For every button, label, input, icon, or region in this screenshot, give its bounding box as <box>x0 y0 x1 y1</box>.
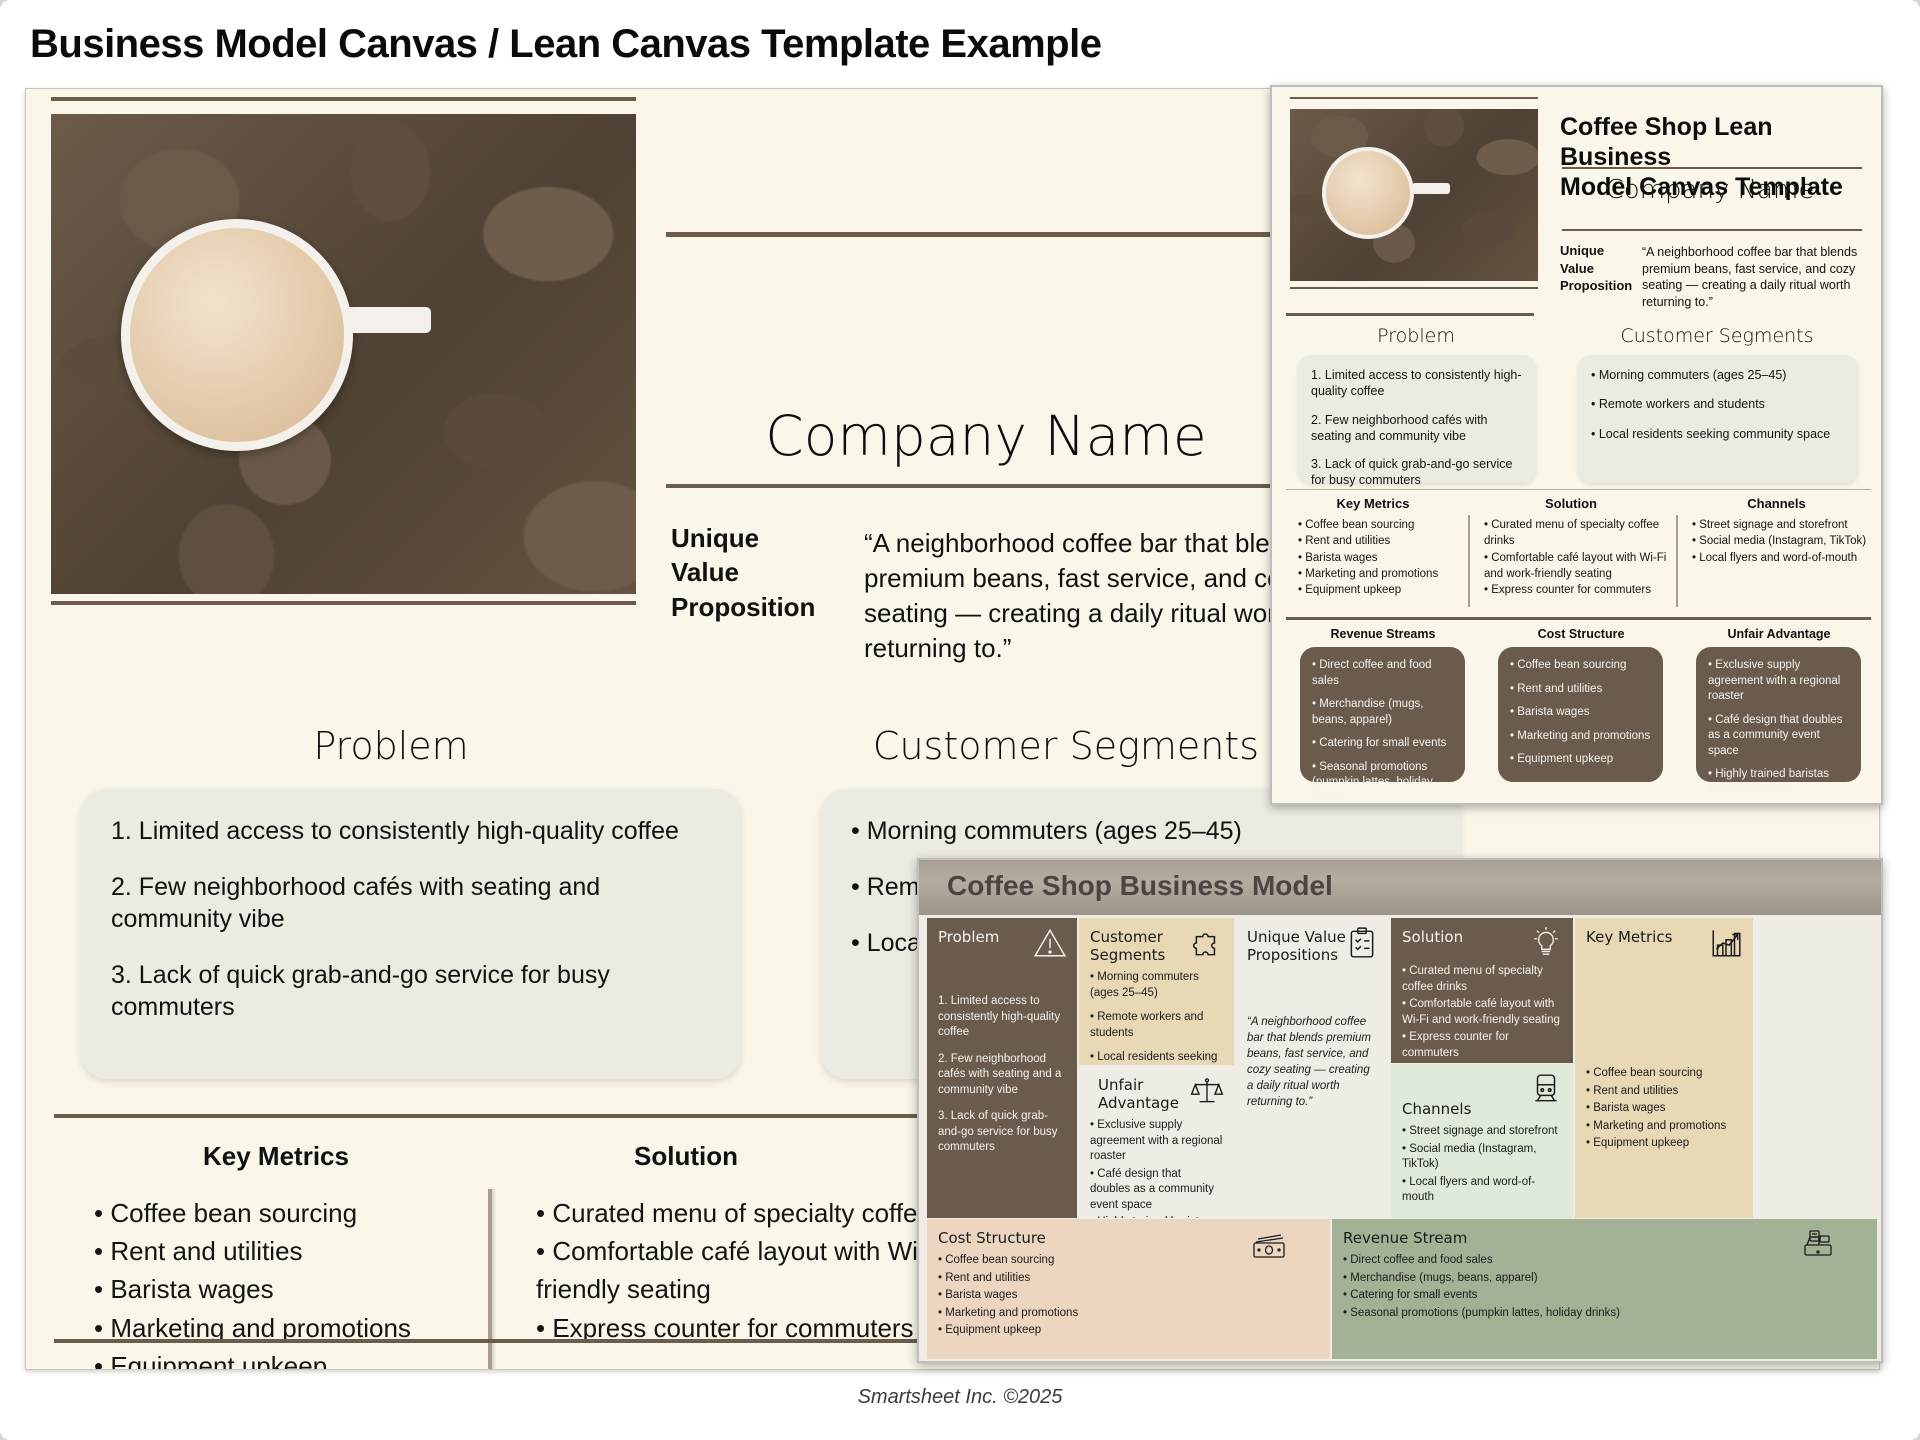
lp-problem-item: 2. Few neighborhood cafés with seating a… <box>1311 412 1523 445</box>
lp-customer-segment-item: Remote workers and students <box>1591 396 1845 412</box>
lp-problem-heading: Problem <box>1286 325 1546 347</box>
bm-uvp-heading-l2: Propositions <box>1247 946 1338 964</box>
lp-uvp-label-line1: Unique <box>1560 242 1632 260</box>
lp-cost-structure-item: Equipment upkeep <box>1510 752 1651 768</box>
bm-revenue-stream-item: Catering for small events <box>1343 1288 1866 1304</box>
lp-revenue-streams-heading: Revenue Streams <box>1288 627 1478 641</box>
puzzle-piece-icon <box>1190 926 1224 960</box>
bm-customer-segments-list: Morning commuters (ages 25–45) Remote wo… <box>1090 970 1223 1065</box>
bm-channels-cell[interactable]: Channels Street signage and storefront S… <box>1391 1064 1573 1218</box>
problem-item-1: 1. Limited access to consistently high-q… <box>111 815 711 847</box>
lp-cost-structure-item: Coffee bean sourcing <box>1510 658 1651 674</box>
lp-company-bottom-rule <box>1562 229 1862 231</box>
bm-solution-item: Express counter for commuters <box>1402 1030 1562 1061</box>
photo-top-rule <box>51 97 636 101</box>
bm-problem-item: 1. Limited access to consistently high-q… <box>938 994 1066 1041</box>
lp-unfair-advantage-item: Highly trained baristas known by name <box>1708 767 1849 798</box>
bm-unfair-advantage-item: Highly trained baristas known by name <box>1090 1215 1223 1218</box>
cash-money-icon <box>1250 1231 1290 1261</box>
uvp-label-line1: Unique <box>671 521 815 555</box>
bm-solution-item: Comfortable café layout with Wi-Fi and w… <box>1402 997 1562 1028</box>
bm-problem-item: 2. Few neighborhood cafés with seating a… <box>938 1052 1066 1099</box>
problem-item-3: 3. Lack of quick grab-and-go service for… <box>111 959 711 1023</box>
lp-cost-structure-item: Rent and utilities <box>1510 682 1651 698</box>
lp-cost-structure-item: Marketing and promotions <box>1510 729 1651 745</box>
lp-row3-rule <box>1286 617 1871 620</box>
lp-revenue-stream-item: Direct coffee and food sales <box>1312 658 1453 689</box>
bm-unfair-advantage-item: Exclusive supply agreement with a region… <box>1090 1118 1223 1165</box>
bm-channels-item: Street signage and storefront <box>1402 1124 1562 1140</box>
lp-channels-item: Social media (Instagram, TikTok) <box>1692 533 1872 549</box>
business-model-panel[interactable]: Coffee Shop Business Model Problem 1. Li… <box>917 858 1883 1363</box>
bm-key-metrics-item: Barista wages <box>1586 1101 1742 1117</box>
lp-key-metrics-item: Rent and utilities <box>1298 533 1463 549</box>
coffee-cup-handle-icon <box>346 307 431 333</box>
lp-key-metrics-item: Coffee bean sourcing <box>1298 517 1463 533</box>
warning-triangle-icon <box>1033 926 1067 960</box>
lp-uvp-label-line3: Proposition <box>1560 277 1632 295</box>
key-metrics-list: Coffee bean sourcing Rent and utilities … <box>94 1194 494 1370</box>
key-metrics-heading: Key Metrics <box>126 1141 426 1172</box>
lp-row2-rule <box>1286 489 1871 490</box>
bm-channels-item: Social media (Instagram, TikTok) <box>1402 1142 1562 1173</box>
bm-unfair-advantage-list: Exclusive supply agreement with a region… <box>1090 1118 1223 1218</box>
lp-problem-item: 3. Lack of quick grab-and-go service for… <box>1311 456 1523 489</box>
bm-cost-structure-item: Marketing and promotions <box>938 1306 1319 1322</box>
lp-coffee-cup-handle-icon <box>1412 183 1450 194</box>
bm-problem-list: 1. Limited access to consistently high-q… <box>938 994 1066 1156</box>
bm-key-metrics-item: Marketing and promotions <box>1586 1119 1742 1135</box>
lp-unfair-advantage-item: Exclusive supply agreement with a region… <box>1708 658 1849 705</box>
bm-problem-item: 3. Lack of quick grab-and-go service for… <box>938 1109 1066 1156</box>
bm-key-metrics-item: Equipment upkeep <box>1586 1136 1742 1152</box>
lean-canvas-panel[interactable]: Coffee Shop Lean Business Model Canvas T… <box>1270 85 1883 805</box>
bm-revenue-stream-item: Direct coffee and food sales <box>1343 1253 1866 1269</box>
bar-chart-growth-icon <box>1709 926 1743 960</box>
lp-revenue-stream-item: Seasonal promotions (pumpkin lattes, hol… <box>1312 760 1453 805</box>
lp-channels-item: Street signage and storefront <box>1692 517 1872 533</box>
lp-title-line1: Coffee Shop Lean Business <box>1560 112 1870 172</box>
bm-key-metrics-list: Coffee bean sourcing Rent and utilities … <box>1586 1066 1742 1152</box>
bm-key-metrics-cell[interactable]: Key Metrics Coffee bean sourcing Rent an… <box>1575 918 1753 1218</box>
bm-cost-structure-item: Equipment upkeep <box>938 1323 1319 1339</box>
bm-key-metrics-item: Coffee bean sourcing <box>1586 1066 1742 1082</box>
bm-key-metrics-item: Rent and utilities <box>1586 1084 1742 1100</box>
lp-revenue-stream-item: Catering for small events <box>1312 736 1453 752</box>
lp-problem-item: 1. Limited access to consistently high-q… <box>1311 367 1523 400</box>
uvp-label: Unique Value Proposition <box>671 521 815 624</box>
lp-channels-list: Street signage and storefront Social med… <box>1692 517 1872 566</box>
bm-uvp-heading-l1: Unique Value <box>1247 928 1346 946</box>
lightbulb-icon <box>1529 926 1563 960</box>
bm-unfair-advantage-item: Café design that doubles as a community … <box>1090 1167 1223 1214</box>
lp-key-metrics-item: Equipment upkeep <box>1298 582 1463 598</box>
lp-customer-segments-list: Morning commuters (ages 25–45) Remote wo… <box>1591 367 1845 442</box>
lp-uvp-label-line2: Value <box>1560 260 1632 278</box>
bm-cost-structure-cell[interactable]: Cost Structure Coffee bean sourcing Rent… <box>927 1219 1330 1359</box>
lp-channels-heading: Channels <box>1684 496 1869 511</box>
key-metrics-item: Rent and utilities <box>94 1232 494 1270</box>
customer-segment-item-1: • Morning commuters (ages 25–45) <box>851 815 1431 847</box>
lp-key-metrics-list: Coffee bean sourcing Rent and utilities … <box>1298 517 1463 599</box>
problem-heading: Problem <box>86 724 696 768</box>
lp-company-top-rule <box>1562 167 1862 169</box>
bm-problem-cell[interactable]: Problem 1. Limited access to consistentl… <box>927 918 1077 1218</box>
lp-coffee-beans-photo <box>1290 109 1538 281</box>
cash-register-icon <box>1799 1229 1837 1263</box>
bm-revenue-stream-heading: Revenue Stream <box>1343 1229 1866 1247</box>
lp-revenue-streams-list: Direct coffee and food sales Merchandise… <box>1312 658 1453 805</box>
lp-divider-2 <box>1676 515 1678 607</box>
bm-uvp-quote: “A neighborhood coffee bar that blends p… <box>1247 1014 1378 1111</box>
company-name-heading: Company Name <box>726 404 1246 468</box>
bm-solution-item: Curated menu of specialty coffee drinks <box>1402 964 1562 995</box>
lp-company-name: Company Name <box>1560 175 1860 205</box>
lp-solution-item: Express counter for commuters <box>1484 582 1669 598</box>
coffee-beans-photo <box>51 114 636 594</box>
lp-revenue-streams-card: Direct coffee and food sales Merchandise… <box>1300 647 1465 782</box>
lp-revenue-stream-item: Merchandise (mugs, beans, apparel) <box>1312 697 1453 728</box>
key-metrics-item: Equipment upkeep <box>94 1347 494 1370</box>
lp-unfair-advantage-list: Exclusive supply agreement with a region… <box>1708 658 1849 798</box>
lp-channels-item: Local flyers and word-of-mouth <box>1692 550 1872 566</box>
lp-customer-segment-item: Morning commuters (ages 25–45) <box>1591 367 1845 383</box>
page-root: Business Model Canvas / Lean Canvas Temp… <box>0 0 1920 1440</box>
key-metrics-item: Coffee bean sourcing <box>94 1194 494 1232</box>
bm-revenue-stream-cell[interactable]: Revenue Stream Direct coffee and food sa… <box>1332 1219 1877 1359</box>
lp-customer-segment-item: Local residents seeking community space <box>1591 426 1845 442</box>
bm-channels-list: Street signage and storefront Social med… <box>1402 1124 1562 1206</box>
lp-key-metrics-heading: Key Metrics <box>1288 496 1458 511</box>
bm-revenue-stream-item: Seasonal promotions (pumpkin lattes, hol… <box>1343 1306 1866 1322</box>
bm-unfair-advantage-cell[interactable]: Unfair Advantage Exclusive supply agreem… <box>1079 1066 1234 1218</box>
lp-solution-heading: Solution <box>1476 496 1666 511</box>
lp-cost-structure-item: Barista wages <box>1510 705 1651 721</box>
page-title: Business Model Canvas / Lean Canvas Temp… <box>30 22 1101 67</box>
bm-cost-structure-item: Barista wages <box>938 1288 1319 1304</box>
lp-solution-list: Curated menu of specialty coffee drinks … <box>1484 517 1669 599</box>
solution-heading: Solution <box>526 1141 846 1172</box>
problem-card: 1. Limited access to consistently high-q… <box>81 789 741 1079</box>
clipboard-checklist-icon <box>1345 926 1379 960</box>
lp-cost-structure-list: Coffee bean sourcing Rent and utilities … <box>1510 658 1651 768</box>
bm-uvp-cell[interactable]: Unique Value Propositions “A neighborhoo… <box>1236 918 1389 1218</box>
bm-solution-cell[interactable]: Solution Curated menu of specialty coffe… <box>1391 918 1573 1063</box>
bm-revenue-stream-item: Merchandise (mugs, beans, apparel) <box>1343 1271 1866 1287</box>
lp-photo-top-rule <box>1290 97 1538 99</box>
key-metrics-item: Barista wages <box>94 1270 494 1308</box>
scales-balance-icon <box>1190 1074 1224 1108</box>
lp-mid-rule <box>1286 313 1534 316</box>
bm-title: Coffee Shop Business Model <box>947 870 1333 902</box>
lp-solution-item: Comfortable café layout with Wi-Fi and w… <box>1484 550 1669 583</box>
lp-uvp-label: Unique Value Proposition <box>1560 242 1632 295</box>
bm-revenue-stream-list: Direct coffee and food sales Merchandise… <box>1343 1253 1866 1321</box>
lp-unfair-advantage-heading: Unfair Advantage <box>1684 627 1874 641</box>
bm-cost-structure-item: Rent and utilities <box>938 1271 1319 1287</box>
bm-customer-segment-item: Local residents seeking community space. <box>1090 1050 1223 1065</box>
bm-customer-segments-cell[interactable]: Customer Segments Morning commuters (age… <box>1079 918 1234 1065</box>
lp-uvp-text: “A neighborhood coffee bar that blends p… <box>1642 244 1870 311</box>
lp-customer-segments-card: Morning commuters (ages 25–45) Remote wo… <box>1578 355 1858 483</box>
lp-unfair-advantage-item: Café design that doubles as a community … <box>1708 713 1849 760</box>
bm-customer-segment-item: Remote workers and students <box>1090 1010 1223 1041</box>
uvp-label-line2: Value <box>671 555 815 589</box>
bm-channels-item: Local flyers and word-of-mouth <box>1402 1175 1562 1206</box>
lp-cost-structure-heading: Cost Structure <box>1486 627 1676 641</box>
bm-cost-structure-list: Coffee bean sourcing Rent and utilities … <box>938 1253 1319 1339</box>
lp-key-metrics-item: Barista wages <box>1298 550 1463 566</box>
lp-cost-structure-card: Coffee bean sourcing Rent and utilities … <box>1498 647 1663 782</box>
lp-problem-card: 1. Limited access to consistently high-q… <box>1298 355 1536 483</box>
uvp-label-line3: Proposition <box>671 590 815 624</box>
train-transit-icon <box>1529 1072 1563 1106</box>
lp-unfair-advantage-card: Exclusive supply agreement with a region… <box>1696 647 1861 782</box>
lp-solution-item: Curated menu of specialty coffee drinks <box>1484 517 1669 550</box>
lp-coffee-cup-icon <box>1322 147 1414 239</box>
lp-key-metrics-item: Marketing and promotions <box>1298 566 1463 582</box>
lp-divider-1 <box>1468 515 1470 607</box>
lp-customer-segments-heading: Customer Segments <box>1572 325 1862 347</box>
lp-photo-bottom-rule <box>1290 287 1538 289</box>
coffee-cup-icon <box>121 219 353 451</box>
photo-bottom-rule <box>51 601 636 605</box>
problem-item-2: 2. Few neighborhood cafés with seating a… <box>111 871 711 935</box>
footer-copyright: Smartsheet Inc. ©2025 <box>0 1386 1920 1409</box>
bm-customer-segment-item: Morning commuters (ages 25–45) <box>1090 970 1223 1001</box>
customer-segments-heading: Customer Segments <box>816 724 1316 768</box>
bm-solution-list: Curated menu of specialty coffee drinks … <box>1402 964 1562 1061</box>
